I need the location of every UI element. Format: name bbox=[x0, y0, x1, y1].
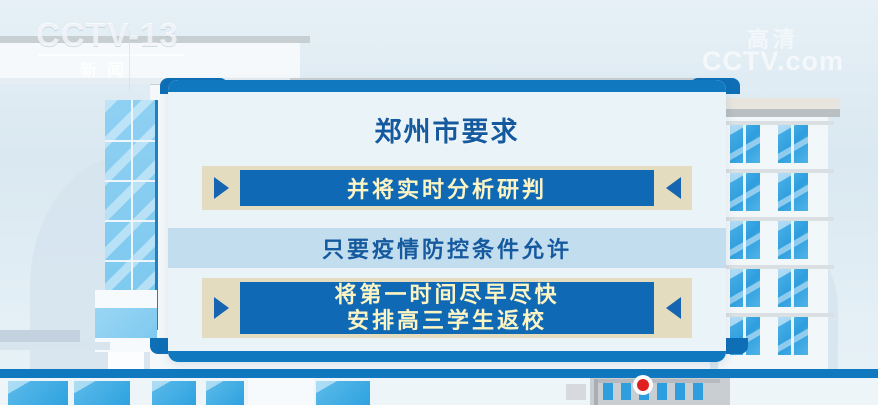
hd-watermark: 高清 CCTV.com bbox=[688, 22, 858, 78]
arrow-cell-right bbox=[654, 297, 692, 319]
arrow-cell-right bbox=[654, 177, 692, 199]
info-row-frame: 将第一时间尽早尽快 安排高三学生返校 bbox=[202, 278, 692, 338]
gate-bar bbox=[657, 383, 667, 400]
info-band-text: 只要疫情防控条件允许 bbox=[322, 232, 572, 264]
window-icon bbox=[778, 269, 808, 307]
ground-window bbox=[8, 381, 68, 405]
gate-bar bbox=[693, 383, 703, 400]
gate-stub bbox=[566, 384, 586, 400]
window-icon bbox=[730, 125, 760, 163]
window-icon bbox=[778, 221, 808, 259]
site-domain-label: CCTV.com bbox=[688, 46, 858, 77]
right-building-window-row bbox=[726, 125, 834, 163]
red-dot-icon bbox=[637, 379, 649, 391]
window-icon bbox=[730, 221, 760, 259]
right-building-window-row bbox=[726, 221, 834, 259]
info-row-frame: 并将实时分析研判 bbox=[202, 166, 692, 210]
window-icon bbox=[730, 269, 760, 307]
info-card-bottom-border bbox=[168, 351, 726, 362]
page-title: 郑州市要求 bbox=[168, 110, 726, 149]
broadcast-frame: CCTV-13 新闻 高清 CCTV.com 郑州市要求 并将实时分析研判 bbox=[0, 0, 878, 405]
right-building-roof-shadow bbox=[724, 109, 840, 117]
door-divider bbox=[279, 381, 282, 405]
info-row-text-line-1: 将第一时间尽早尽快 bbox=[334, 282, 559, 308]
info-card: 郑州市要求 并将实时分析研判 只要疫情防控条件允许 将第一时间 bbox=[168, 80, 726, 362]
window-icon bbox=[778, 317, 808, 355]
window-icon bbox=[778, 125, 808, 163]
right-building-window-row bbox=[726, 269, 834, 307]
info-row-highlight-1: 并将实时分析研判 bbox=[202, 166, 692, 210]
right-building-window-row bbox=[726, 173, 834, 211]
info-row-band-2: 只要疫情防控条件允许 bbox=[168, 228, 726, 268]
channel-logo-watermark: CCTV-13 新闻 bbox=[36, 18, 186, 74]
glass-mullion-v bbox=[131, 100, 133, 300]
gate-bar bbox=[675, 383, 685, 400]
info-row-highlight-3: 将第一时间尽早尽快 安排高三学生返校 bbox=[202, 278, 692, 338]
window-icon bbox=[730, 173, 760, 211]
channel-logo-text: CCTV-13 bbox=[36, 18, 186, 52]
right-building-roof bbox=[724, 98, 840, 109]
ground-blue-line bbox=[0, 369, 878, 378]
info-row-text: 并将实时分析研判 bbox=[240, 170, 654, 206]
arrow-cell-left bbox=[202, 177, 240, 199]
ground-window bbox=[152, 381, 196, 405]
ground-strip bbox=[0, 378, 878, 405]
left-foreground-ledge-2 bbox=[0, 342, 110, 350]
ground-window bbox=[316, 381, 370, 405]
triangle-left-icon bbox=[666, 297, 681, 319]
ground-window bbox=[206, 381, 244, 405]
triangle-right-icon bbox=[214, 177, 229, 199]
gate-bar bbox=[603, 383, 613, 400]
triangle-left-icon bbox=[666, 177, 681, 199]
arrow-cell-left bbox=[202, 297, 240, 319]
ground-window bbox=[74, 381, 130, 405]
info-card-top-border bbox=[168, 80, 726, 92]
channel-logo-subtitle: 新闻 bbox=[80, 56, 134, 81]
left-foreground-ledge bbox=[0, 330, 80, 342]
tower-base-glass bbox=[95, 308, 157, 338]
tower-base-band-a bbox=[95, 290, 157, 308]
glass-curtain-tower bbox=[105, 100, 157, 300]
triangle-right-icon bbox=[214, 297, 229, 319]
info-row-text-block: 将第一时间尽早尽快 安排高三学生返校 bbox=[240, 282, 654, 334]
gate-bar bbox=[621, 383, 631, 400]
info-row-text-line-2: 安排高三学生返校 bbox=[347, 308, 547, 334]
window-icon bbox=[778, 173, 808, 211]
